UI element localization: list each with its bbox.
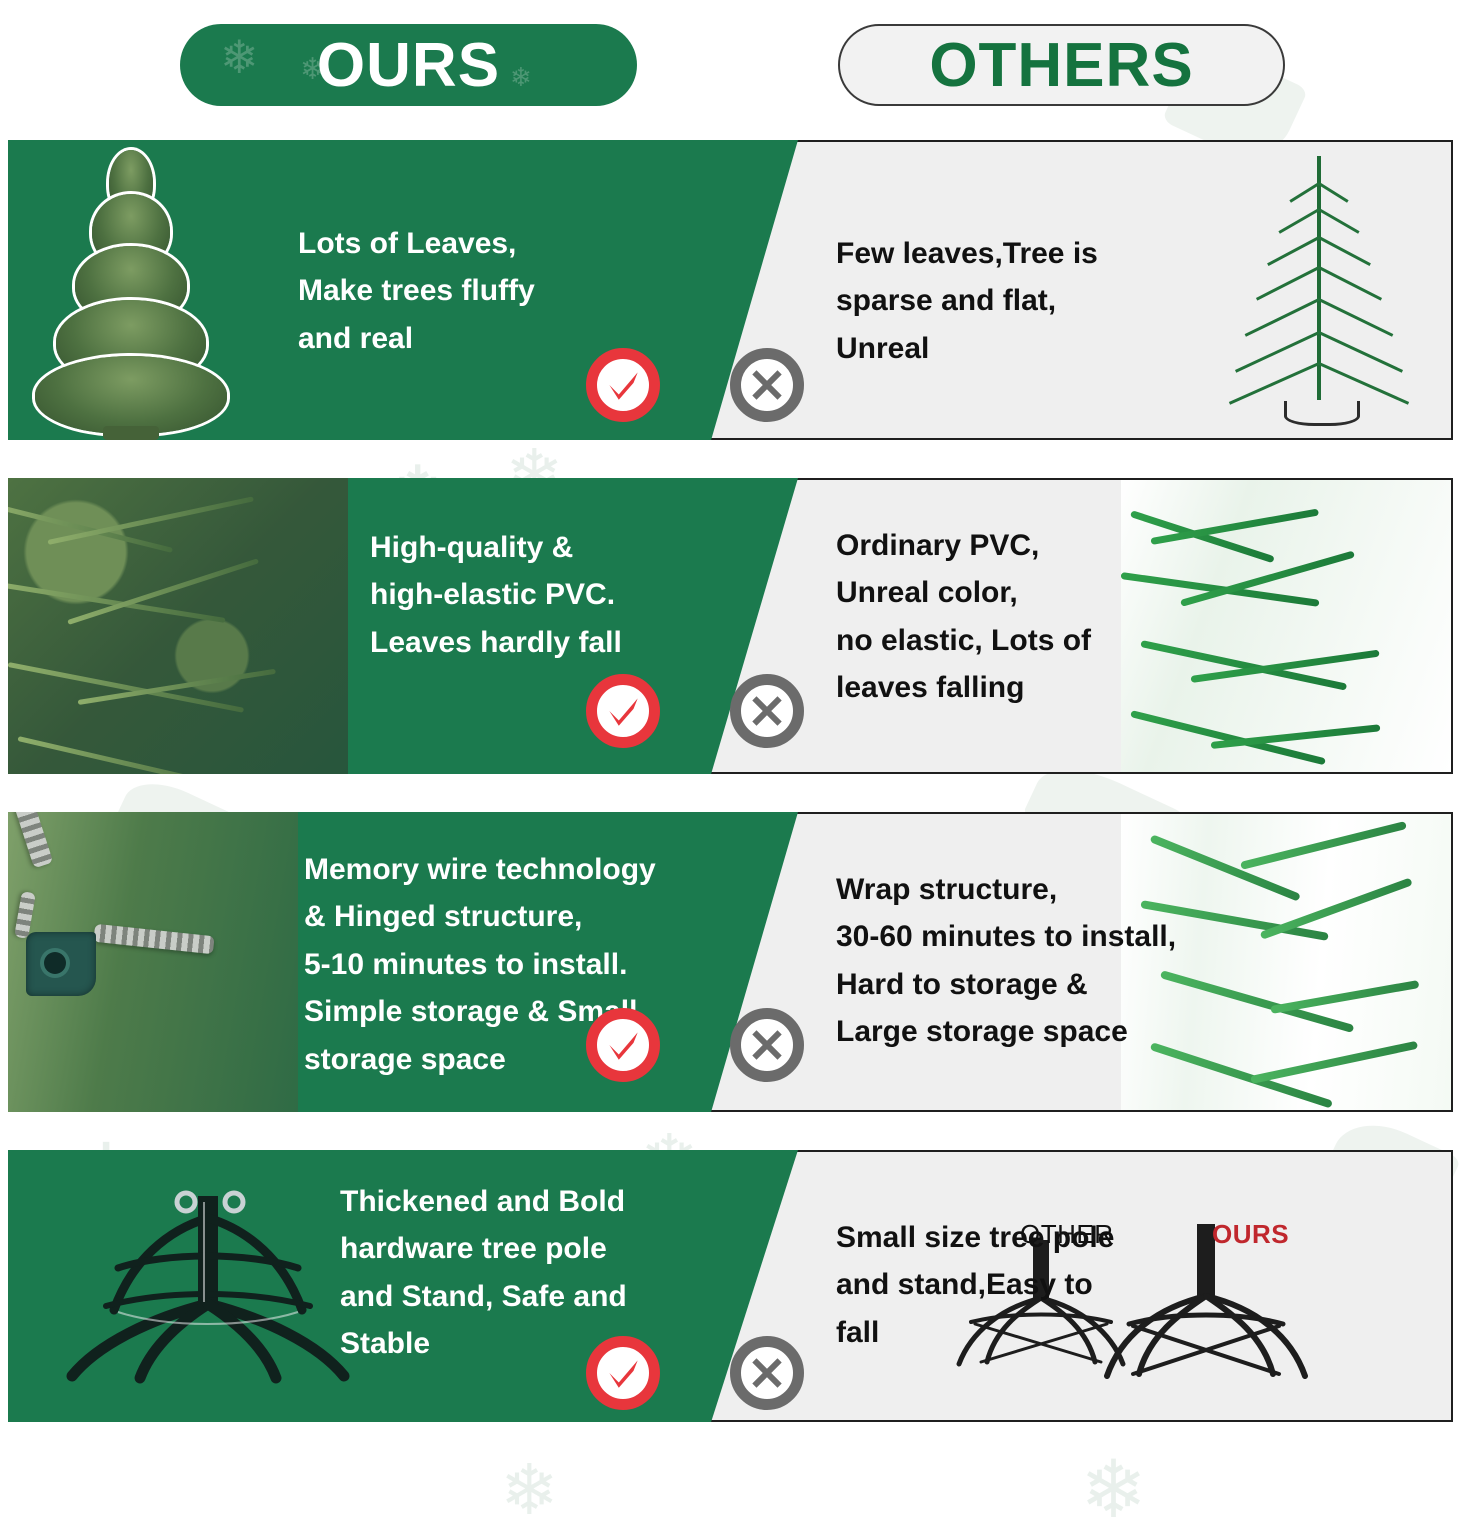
others-feature-line: Few leaves,Tree is (836, 230, 1098, 277)
ours-feature-line: Thickened and Bold (340, 1178, 627, 1225)
others-header-pill: OTHERS (838, 24, 1285, 106)
snowflake-icon: ❄ (500, 1455, 559, 1525)
ours-feature-text: Thickened and Bold hardware tree pole an… (340, 1178, 627, 1368)
others-feature-line: fall (836, 1309, 1114, 1356)
ours-feature-line: Lots of Leaves, (298, 220, 535, 267)
sparse-christmas-tree-photo (1151, 142, 1451, 438)
others-feature-line: Ordinary PVC, (836, 522, 1091, 569)
comparison-row: Wrap structure, 30-60 minutes to install… (8, 812, 1453, 1112)
ours-feature-line: High-quality & (370, 524, 622, 571)
heavy-duty-stand-illustration (48, 1178, 378, 1388)
check-circle-icon (586, 674, 660, 748)
others-feature-text: Wrap structure, 30-60 minutes to install… (836, 866, 1176, 1056)
others-feature-line: Unreal (836, 325, 1098, 372)
snowflake-icon: ❄ (1080, 1450, 1147, 1530)
comparison-row: Ordinary PVC, Unreal color, no elastic, … (8, 478, 1453, 774)
ours-feature-text: Lots of Leaves, Make trees fluffy and re… (298, 220, 535, 362)
stand-caption-ours: OURS (1212, 1219, 1289, 1250)
thick-metal-tree-stand-photo (48, 1178, 378, 1388)
cross-circle-icon (730, 674, 804, 748)
ours-feature-line: and Stand, Safe and (340, 1273, 627, 1320)
cross-circle-icon (730, 1336, 804, 1410)
ours-feature-line: Memory wire technology (304, 846, 656, 893)
others-feature-line: 30-60 minutes to install, (836, 913, 1176, 960)
ours-panel: Lots of Leaves, Make trees fluffy and re… (8, 140, 798, 440)
ours-header-label: OURS (317, 30, 500, 101)
ordinary-pvc-needles-closeup-photo (1121, 480, 1451, 772)
ours-feature-line: high-elastic PVC. (370, 571, 622, 618)
others-header-label: OTHERS (929, 30, 1193, 101)
ours-panel: High-quality & high-elastic PVC. Leaves … (8, 478, 798, 774)
check-circle-icon (586, 1336, 660, 1410)
cross-circle-icon (730, 1008, 804, 1082)
realistic-pine-needles-closeup-photo (8, 478, 348, 774)
others-feature-line: leaves falling (836, 664, 1091, 711)
ours-feature-line: 5-10 minutes to install. (304, 941, 656, 988)
others-feature-line: sparse and flat, (836, 277, 1098, 324)
ours-panel: Thickened and Bold hardware tree pole an… (8, 1150, 798, 1422)
others-feature-line: Wrap structure, (836, 866, 1176, 913)
comparison-row: Few leaves,Tree is sparse and flat, Unre… (8, 140, 1453, 440)
ours-feature-text: High-quality & high-elastic PVC. Leaves … (370, 524, 622, 666)
dense-christmas-tree-photo (8, 140, 308, 440)
stand-caption-other: OTHER (1020, 1219, 1114, 1250)
check-circle-icon (586, 1008, 660, 1082)
others-feature-line: no elastic, Lots of (836, 617, 1091, 664)
ours-feature-line: Leaves hardly fall (370, 619, 622, 666)
ours-header-pill: ❄ ❄ ❄ OURS (180, 24, 637, 106)
hinged-memory-wire-branch-photo (8, 812, 298, 1112)
others-feature-text: Few leaves,Tree is sparse and flat, Unre… (836, 230, 1098, 372)
others-feature-text: Ordinary PVC, Unreal color, no elastic, … (836, 522, 1091, 712)
others-feature-line: Unreal color, (836, 569, 1091, 616)
comparison-header: ❄ ❄ ❄ OURS OTHERS (0, 0, 1461, 140)
ours-feature-line: & Hinged structure, (304, 893, 656, 940)
check-circle-icon (586, 348, 660, 422)
ours-feature-line: and real (298, 315, 535, 362)
others-feature-line: Large storage space (836, 1008, 1176, 1055)
others-feature-line: Hard to storage & (836, 961, 1176, 1008)
ours-feature-line: Make trees fluffy (298, 267, 535, 314)
others-feature-line: and stand,Easy to (836, 1261, 1114, 1308)
cross-circle-icon (730, 348, 804, 422)
snowflake-icon: ❄ (220, 30, 259, 84)
ours-feature-line: hardware tree pole (340, 1225, 627, 1272)
comparison-row: Small size tree pole and stand,Easy to f… (8, 1150, 1453, 1422)
snowflake-icon: ❄ (510, 62, 532, 93)
ours-feature-line: Stable (340, 1320, 627, 1367)
ours-panel: Memory wire technology & Hinged structur… (8, 812, 798, 1112)
